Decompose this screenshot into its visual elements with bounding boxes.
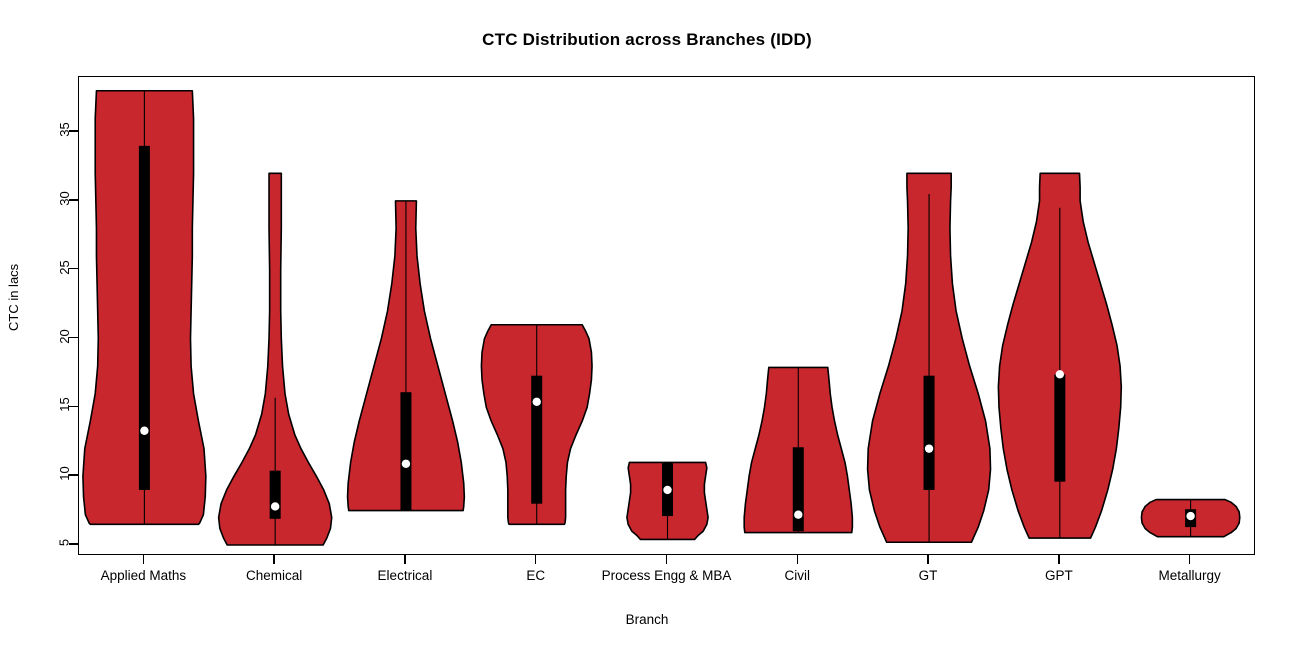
violin-median-point <box>1056 370 1064 378</box>
x-axis-tick <box>1189 555 1191 564</box>
violin-median-point <box>1186 512 1194 520</box>
plot-area <box>78 76 1255 555</box>
x-axis-tick-label: Chemical <box>246 568 302 583</box>
violin-chemical[interactable] <box>219 173 332 545</box>
violin-median-point <box>533 398 541 406</box>
x-axis-tick-label: Applied Maths <box>101 568 187 583</box>
x-axis-tick <box>535 555 537 564</box>
violin-iqr-box <box>400 392 411 510</box>
violin-metallurgy[interactable] <box>1141 500 1239 537</box>
violin-iqr-box <box>1054 374 1065 481</box>
x-axis-tick-label: Metallurgy <box>1158 568 1220 583</box>
x-axis-tick-label: Process Engg & MBA <box>602 568 732 583</box>
y-axis-tick-label: 5 <box>57 539 72 546</box>
violin-median-point <box>794 511 802 519</box>
violin-iqr-box <box>924 376 935 490</box>
y-axis-tick-label: 25 <box>57 260 72 274</box>
violin-applied-maths[interactable] <box>83 91 206 525</box>
violin-plot-figure: CTC Distribution across Branches (IDD) C… <box>0 0 1294 653</box>
x-axis-title: Branch <box>0 612 1294 627</box>
violin-iqr-box <box>531 376 542 504</box>
violin-civil[interactable] <box>744 367 852 532</box>
x-axis: Applied MathsChemicalElectricalECProcess… <box>78 555 1255 615</box>
x-axis-tick <box>1058 555 1060 564</box>
page-title: CTC Distribution across Branches (IDD) <box>0 30 1294 50</box>
x-axis-tick-label: GPT <box>1045 568 1073 583</box>
x-axis-tick-label: Civil <box>785 568 811 583</box>
x-axis-tick-label: Electrical <box>378 568 433 583</box>
y-axis-tick-label: 20 <box>57 329 72 343</box>
x-axis-tick <box>273 555 275 564</box>
violin-series-group <box>79 77 1256 556</box>
violin-iqr-box <box>270 471 281 519</box>
violin-median-point <box>925 444 933 452</box>
y-axis-tick-label: 35 <box>57 122 72 136</box>
x-axis-tick-label: EC <box>526 568 545 583</box>
x-axis-tick <box>404 555 406 564</box>
violin-gpt[interactable] <box>998 173 1121 538</box>
violin-electrical[interactable] <box>348 201 465 511</box>
violin-median-point <box>271 502 279 510</box>
violin-gt[interactable] <box>868 173 991 542</box>
x-axis-tick-label: GT <box>919 568 938 583</box>
x-axis-tick <box>797 555 799 564</box>
y-axis-title: CTC in lacs <box>6 264 21 331</box>
violin-median-point <box>402 460 410 468</box>
x-axis-tick <box>666 555 668 564</box>
violin-median-point <box>140 427 148 435</box>
y-axis: CTC in lacs 5101520253035 <box>0 76 78 555</box>
violin-median-point <box>663 486 671 494</box>
y-axis-tick-label: 30 <box>57 191 72 205</box>
y-axis-tick-label: 10 <box>57 466 72 480</box>
x-axis-tick <box>143 555 145 564</box>
violin-process-engg-mba[interactable] <box>627 462 708 539</box>
y-axis-tick-label: 15 <box>57 398 72 412</box>
x-axis-tick <box>927 555 929 564</box>
violin-iqr-box <box>139 146 150 490</box>
violin-ec[interactable] <box>481 325 592 525</box>
